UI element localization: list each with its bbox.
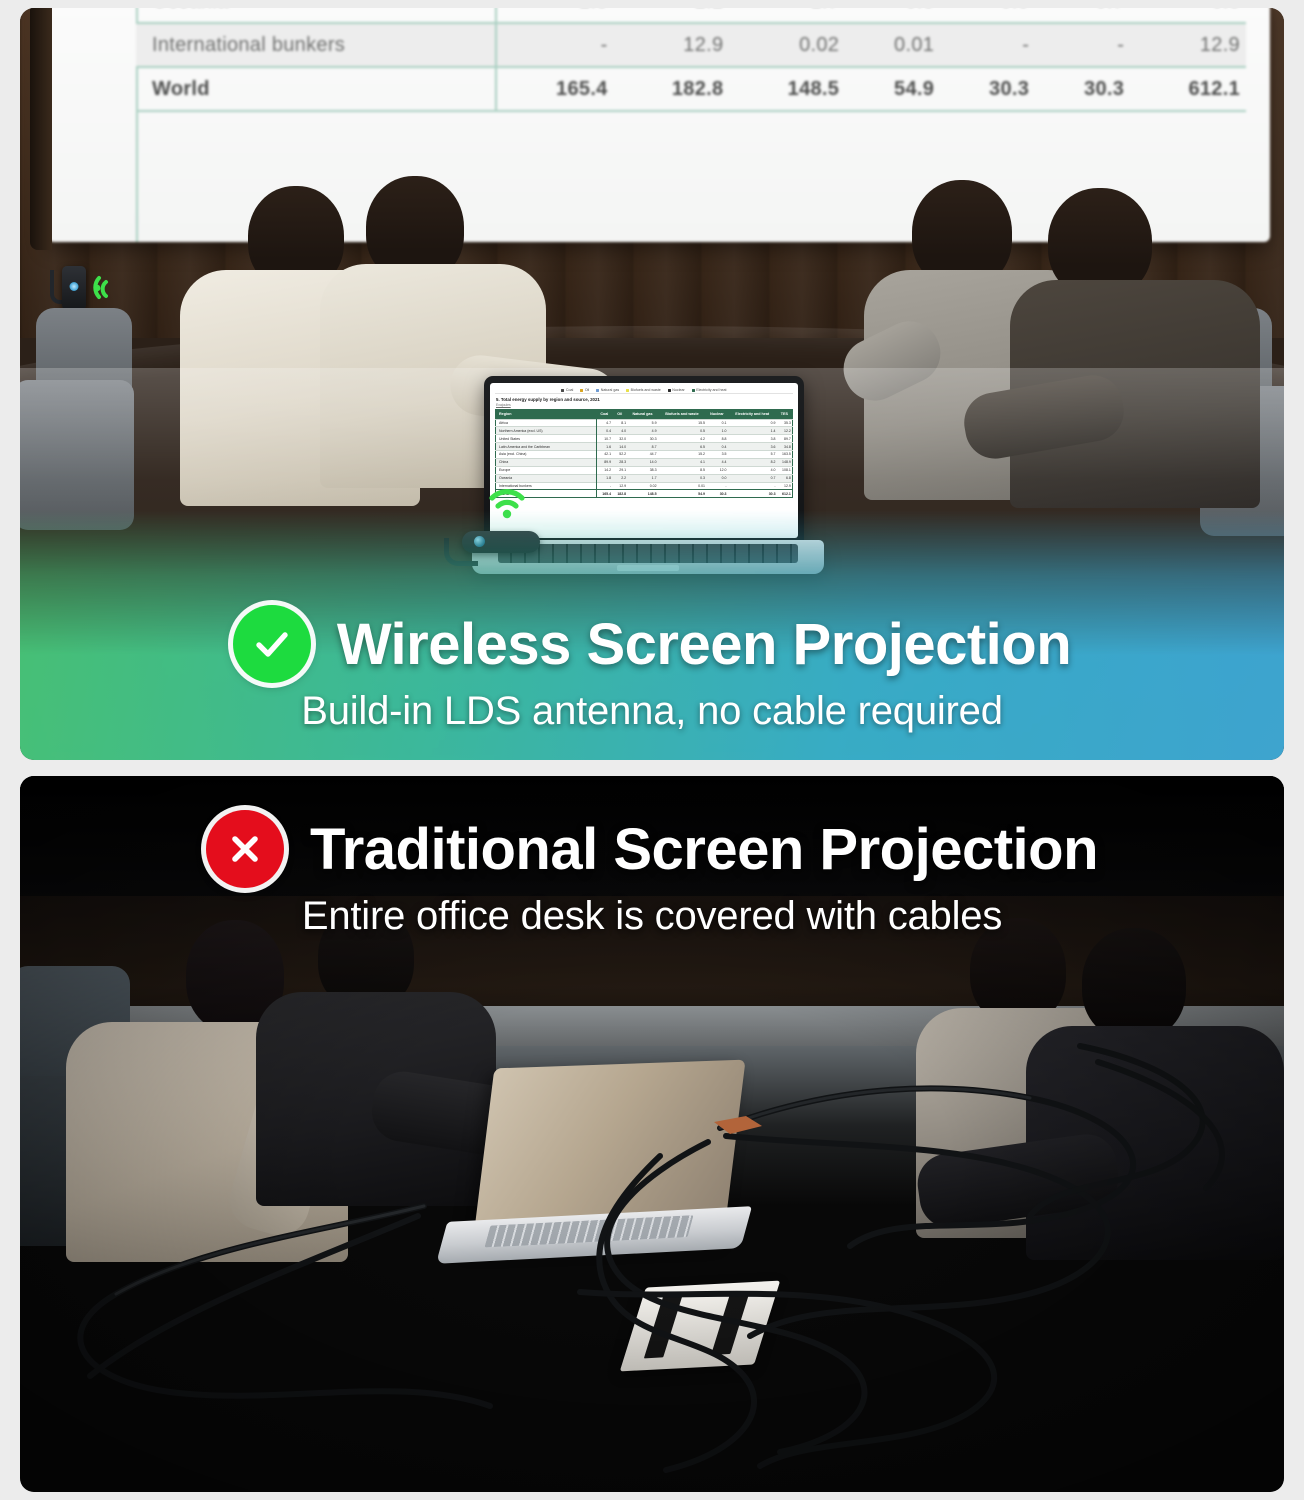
cell-value: 4.2 [658,435,706,443]
cell-value: 148.5 [627,490,657,498]
legend-item: Coal [561,388,573,392]
cell-value: 0.5 [658,427,706,435]
cell-region: Asia (excl. China) [496,451,597,459]
cell-value: 28.3 [612,458,627,466]
cell-region: Europe [496,466,597,474]
cell-value: 38.3 [627,466,657,474]
cell-value: 0.4 [596,427,612,435]
cell-value: 12.0 [706,466,728,474]
wireless-headline-block: Wireless Screen Projection Build-in LDS … [20,605,1284,734]
cell-value: 4.7 [596,419,612,427]
cell-value: 165.4 [596,490,612,498]
col-oil: Oil [612,410,627,420]
cell-value: 8.1 [612,419,627,427]
table-row: Asia (excl. China)42.152.244.715.23.55.7… [496,451,793,459]
cell-value: 0.1 [706,419,728,427]
panel-traditional-projection: Traditional Screen Projection Entire off… [20,776,1284,1492]
cell: 165.4 [496,67,614,111]
cell-value: 30.3 [706,490,728,498]
check-icon [233,605,311,683]
cell-value: 30.3 [627,435,657,443]
cell-value: 14.2 [596,466,612,474]
cell-value: 30.3 [728,490,777,498]
energy-supply-table: Region Coal Oil Natural gas Biofuels and… [495,409,793,498]
cell-value: 3.8 [728,435,777,443]
cell-value: 52.2 [612,451,627,459]
cell-value: 42.1 [596,451,612,459]
cell-value: 0.7 [728,474,777,482]
cell-value: 0.01 [658,482,706,490]
cell-value: 0.3 [658,474,706,482]
cell-value: 1.6 [596,443,612,451]
legend-item: Nuclear [668,388,685,392]
slide-title: 5. Total energy supply by region and sou… [496,397,793,402]
cell-value: 15.2 [658,451,706,459]
cell-value: 4.1 [658,458,706,466]
legend-item: Oil [580,388,589,392]
cell-value: 89.7 [777,435,793,443]
table-row: World165.4182.8148.554.930.330.3612.1 [496,490,793,498]
cell: 182.8 [614,67,730,111]
cell: 1.8 [496,8,614,23]
table-row: Europe14.229.138.38.512.04.0108.1 [496,466,793,474]
cell: 0.3 [845,8,940,23]
traditional-headline-block: Traditional Screen Projection Entire off… [20,810,1284,1466]
wireless-subtitle: Build-in LDS antenna, no cable required [20,689,1284,734]
cell: 0.0 [940,8,1035,23]
col-natural-gas: Natural gas [627,410,657,420]
cell: 1.7 [729,8,845,23]
cell: 30.3 [940,67,1035,111]
cell-value: 54.9 [658,490,706,498]
cell-value: 0.02 [627,482,657,490]
cell-value: 4.0 [728,466,777,474]
cell: 12.9 [614,23,730,67]
chart-legend: Coal Oil Natural gas Biofuels and waste … [495,386,793,394]
product-comparison-graphic: China 89.9 28.3 14.0 4.1 4.4 8.2 148.9 E… [0,0,1304,1500]
cell-value: 4.0 [612,427,627,435]
cell-value: 15.5 [658,419,706,427]
cell-value: 4.4 [706,458,728,466]
cell: 612.1 [1130,67,1246,111]
wifi-signal-icon [90,266,130,306]
projected-energy-table: China 89.9 28.3 14.0 4.1 4.4 8.2 148.9 E… [136,8,1246,112]
cell: 148.5 [729,67,845,111]
cell-value: 1.8 [596,474,612,482]
slide-subtitle: Exajoules [496,403,793,407]
person-right-front [1010,188,1280,508]
panel-wireless-projection: China 89.9 28.3 14.0 4.1 4.4 8.2 148.9 E… [20,8,1284,760]
wireless-title: Wireless Screen Projection [337,611,1071,678]
cell-region: United States [496,435,597,443]
cell-value: 10.7 [596,435,612,443]
cell-value: - [728,482,777,490]
col-region: Region [496,410,597,420]
table-header-row: Region Coal Oil Natural gas Biofuels and… [496,410,793,420]
cell: - [496,23,614,67]
cell-value: 8.5 [658,466,706,474]
cell-value: 148.9 [777,458,793,466]
projected-row-region: Oceania [136,8,496,23]
cell-value: 182.8 [612,490,627,498]
cell-value: 89.9 [596,458,612,466]
table-row: Latin America and the Caribbean1.614.08.… [496,443,793,451]
traditional-title: Traditional Screen Projection [310,816,1098,883]
cell-region: China [496,458,597,466]
legend-item: Natural gas [596,388,619,392]
table-row: China89.928.314.04.14.48.2148.9 [496,458,793,466]
cell-value: 12.9 [612,482,627,490]
table-row: Oceania1.82.21.70.30.00.76.8 [496,474,793,482]
cell: 0.01 [845,23,940,67]
cell-value: 0.9 [728,419,777,427]
cell: 6.8 [1130,8,1246,23]
table-row: International bunkers-12.90.020.01--12.9 [496,482,793,490]
cell-value: 6.8 [777,474,793,482]
cell: - [1035,23,1130,67]
cell-region: Latin America and the Caribbean [496,443,597,451]
cell-value: 5.9 [627,419,657,427]
cell-value: 32.0 [612,435,627,443]
cell: - [940,23,1035,67]
projected-row-region: International bunkers [136,23,496,67]
screen-left-edge [30,8,52,250]
cell-region: Northern America (excl. US) [496,427,597,435]
legend-item: Biofuels and waste [626,388,661,392]
cell-value: 8.2 [728,458,777,466]
cell: 12.9 [1130,23,1246,67]
cell: 0.7 [1035,8,1130,23]
col-coal: Coal [596,410,612,420]
table-row: Northern America (excl. US)0.44.04.90.51… [496,427,793,435]
cell-value: 3.6 [728,443,777,451]
cell-value: 3.5 [706,451,728,459]
cell: 54.9 [845,67,940,111]
cell-value: 8.8 [706,435,728,443]
cell-value: 14.0 [627,458,657,466]
cross-icon [206,810,284,888]
table-row: United States10.732.030.34.28.83.889.7 [496,435,793,443]
cell-value: - [706,482,728,490]
receiver-led [70,282,79,291]
cell-value: 0.4 [706,443,728,451]
cell-value: 29.1 [612,466,627,474]
cell-value: - [596,482,612,490]
col-tes: TES [777,410,793,420]
cell-value: 44.7 [627,451,657,459]
cell-value: 108.1 [777,466,793,474]
wireless-meeting-scene: China 89.9 28.3 14.0 4.1 4.4 8.2 148.9 E… [20,8,1284,760]
cell-value: 12.2 [777,427,793,435]
col-nuclear: Nuclear [706,410,728,420]
traditional-meeting-scene: Traditional Screen Projection Entire off… [20,776,1284,1492]
traditional-subtitle: Entire office desk is covered with cable… [20,894,1284,939]
chair [20,380,134,530]
cell-value: 612.1 [777,490,793,498]
cell-value: 0.0 [706,474,728,482]
cell-value: 163.5 [777,451,793,459]
cell-value: 35.3 [777,419,793,427]
table-row: Africa4.78.15.915.50.10.935.3 [496,419,793,427]
legend-item: Electricity and heat [692,388,727,392]
cell-value: 6.5 [658,443,706,451]
cell: 0.02 [729,23,845,67]
cell-value: 1.7 [627,474,657,482]
cell: 2.2 [614,8,730,23]
col-electricity-heat: Electricity and heat [728,410,777,420]
cell-value: 1.0 [706,427,728,435]
cell-value: 8.7 [627,443,657,451]
wifi-receiver-dongle [62,266,86,310]
projected-row-region: World [136,67,496,111]
cell-value: 5.7 [728,451,777,459]
cell: 30.3 [1035,67,1130,111]
cell-value: 14.0 [612,443,627,451]
cell-value: 4.9 [627,427,657,435]
cell-value: 12.9 [777,482,793,490]
cell-value: 34.8 [777,443,793,451]
cell-value: 2.2 [612,474,627,482]
cell-value: 1.4 [728,427,777,435]
cell-region: Africa [496,419,597,427]
col-biofuels: Biofuels and waste [658,410,706,420]
